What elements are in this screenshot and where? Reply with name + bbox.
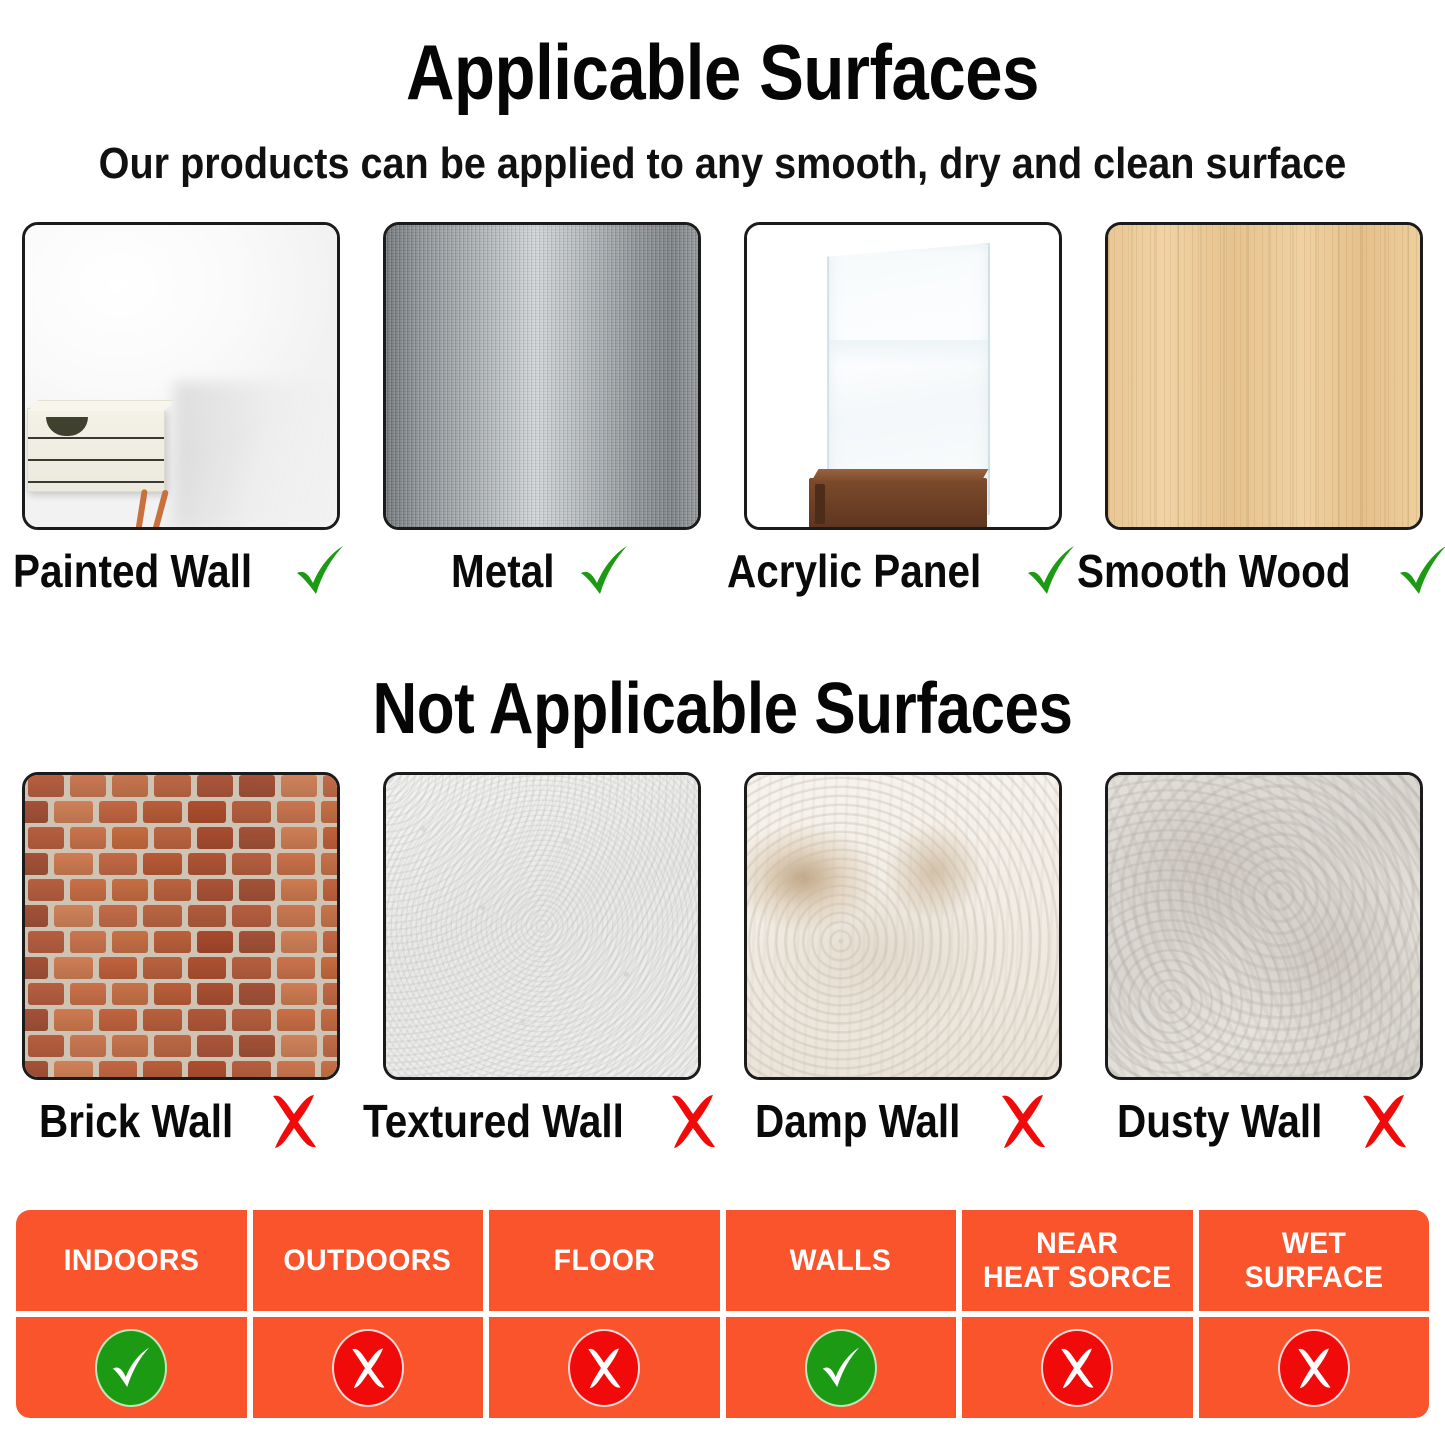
usage-header-label: OUTDOORS [284, 1244, 452, 1278]
usage-status-walls [726, 1317, 957, 1418]
cross-badge-icon [332, 1329, 404, 1407]
cabinet-illustration [27, 408, 165, 492]
surface-image-painted-wall [22, 222, 340, 530]
cross-icon [1356, 1092, 1412, 1150]
surface-label-text: Brick Wall [39, 1095, 233, 1147]
surface-image-dusty-wall [1105, 772, 1423, 1080]
usage-header-outdoors: OUTDOORS [253, 1210, 484, 1311]
surface-image-damp-wall [744, 772, 1062, 1080]
cross-badge-icon [1278, 1329, 1350, 1407]
surface-label-acrylic-panel: Acrylic Panel [727, 542, 1080, 600]
not-applicable-surfaces-row: Brick Wall Textured Wall [0, 772, 1445, 1150]
check-badge-icon [95, 1329, 167, 1407]
usage-header-floor: FLOOR [489, 1210, 720, 1311]
check-badge-icon [805, 1329, 877, 1407]
usage-status-indoors [16, 1317, 247, 1418]
applicable-surfaces-subtitle: Our products can be applied to any smoot… [72, 138, 1373, 190]
surface-label-text: Metal [451, 545, 554, 597]
surface-label-text: Smooth Wood [1077, 545, 1351, 597]
usage-header-label: FLOOR [553, 1244, 655, 1278]
surface-card-textured-wall[interactable]: Textured Wall [361, 772, 722, 1150]
surface-card-smooth-wood[interactable]: Smooth Wood [1084, 222, 1445, 600]
usage-status-outdoors [253, 1317, 484, 1418]
check-icon [1022, 542, 1080, 600]
applicable-surfaces-row: Painted Wall Metal [0, 222, 1445, 600]
surface-label-text: Damp Wall [755, 1095, 960, 1147]
cross-icon [266, 1092, 322, 1150]
surface-label-metal: Metal [451, 542, 633, 600]
surface-image-textured-wall [383, 772, 701, 1080]
usage-header-near-heat-sorce: NEAR HEAT SORCE [962, 1210, 1193, 1311]
surface-label-brick-wall: Brick Wall [39, 1092, 322, 1150]
surface-label-text: Painted Wall [13, 545, 252, 597]
usage-table: INDOORS OUTDOORS FLOOR WALLS NEAR HEAT S… [16, 1210, 1429, 1412]
surface-label-damp-wall: Damp Wall [755, 1092, 1050, 1150]
surface-card-painted-wall[interactable]: Painted Wall [0, 222, 361, 600]
wood-base [809, 478, 987, 530]
surface-card-acrylic-panel[interactable]: Acrylic Panel [723, 222, 1084, 600]
surface-label-smooth-wood: Smooth Wood [1077, 542, 1445, 600]
usage-header-label: INDOORS [63, 1244, 199, 1278]
surface-image-smooth-wood [1105, 222, 1423, 530]
surface-image-acrylic-panel [744, 222, 1062, 530]
usage-header-indoors: INDOORS [16, 1210, 247, 1311]
not-applicable-surfaces-title: Not Applicable Surfaces [101, 668, 1344, 750]
infographic-page: Applicable Surfaces Our products can be … [0, 0, 1445, 1445]
cross-icon [995, 1092, 1051, 1150]
surface-card-brick-wall[interactable]: Brick Wall [0, 772, 361, 1150]
surface-label-text: Dusty Wall [1117, 1095, 1322, 1147]
check-icon [575, 542, 633, 600]
surface-label-text: Acrylic Panel [727, 545, 981, 597]
usage-header-label: NEAR HEAT SORCE [983, 1227, 1172, 1295]
usage-header-walls: WALLS [726, 1210, 957, 1311]
usage-header-label: WALLS [790, 1244, 892, 1278]
surface-label-painted-wall: Painted Wall [13, 542, 349, 600]
cross-icon [665, 1092, 721, 1150]
usage-status-wet-surface [1199, 1317, 1430, 1418]
surface-image-brick-wall [22, 772, 340, 1080]
cross-badge-icon [1041, 1329, 1113, 1407]
cross-badge-icon [568, 1329, 640, 1407]
usage-header-label: WET SURFACE [1244, 1227, 1383, 1295]
applicable-surfaces-title: Applicable Surfaces [101, 28, 1344, 116]
surface-image-metal [383, 222, 701, 530]
usage-header-wet-surface: WET SURFACE [1199, 1210, 1430, 1311]
surface-label-text: Textured Wall [363, 1095, 624, 1147]
usage-status-floor [489, 1317, 720, 1418]
surface-label-dusty-wall: Dusty Wall [1117, 1092, 1412, 1150]
check-icon [291, 542, 349, 600]
usage-status-near-heat-sorce [962, 1317, 1193, 1418]
check-icon [1394, 542, 1445, 600]
surface-label-textured-wall: Textured Wall [363, 1092, 721, 1150]
surface-card-dusty-wall[interactable]: Dusty Wall [1084, 772, 1445, 1150]
surface-card-damp-wall[interactable]: Damp Wall [723, 772, 1084, 1150]
surface-card-metal[interactable]: Metal [361, 222, 722, 600]
